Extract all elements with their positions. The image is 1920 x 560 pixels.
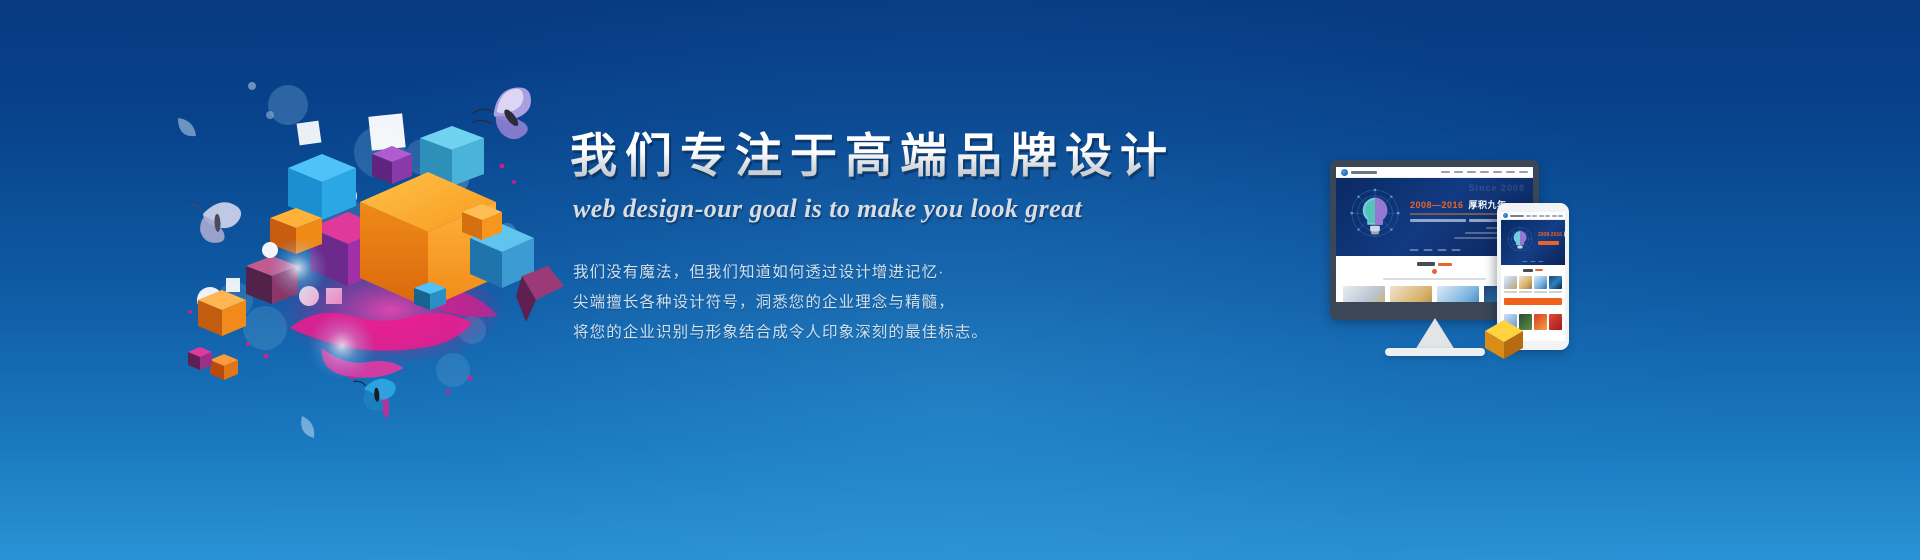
page-subtitle: web design-our goal is to make you look … [573, 194, 1210, 224]
nav-item [1493, 171, 1502, 174]
mobile-hero-text: 2008-2016厚积九年 [1538, 231, 1562, 245]
butterfly-icon [350, 375, 397, 413]
slider-dot[interactable] [1423, 249, 1432, 251]
monitor-stand-neck [1415, 318, 1455, 350]
site-logo-text [1351, 171, 1377, 174]
mobile-cta-banner[interactable] [1504, 298, 1562, 305]
mobile-logo-text [1510, 215, 1524, 217]
site-logo-icon [1341, 169, 1348, 176]
cube [414, 282, 446, 310]
description-line: 将您的企业识别与形象结合成令人印象深刻的最佳标志。 [573, 318, 1210, 348]
site-nav-items [1441, 171, 1528, 174]
description-line: 尖端擅长各种设计符号，洞悉您的企业理念与精髓， [573, 288, 1210, 318]
section-accent-dot [1432, 269, 1437, 274]
nav-item [1539, 215, 1544, 217]
nav-item [1441, 171, 1450, 174]
mobile-nav-items [1526, 215, 1564, 217]
nav-item [1545, 215, 1550, 217]
thumbnail[interactable] [1343, 286, 1385, 302]
cube [372, 146, 412, 184]
mobile-thumbnail-grid [1504, 276, 1562, 293]
mobile-thumb-item[interactable] [1504, 276, 1517, 293]
thumb-caption [1534, 291, 1547, 293]
nav-item [1552, 215, 1557, 217]
nav-item [1526, 215, 1531, 217]
decor-cube-icon [1481, 315, 1527, 361]
gallery-item[interactable] [1549, 314, 1562, 330]
abstract-artwork [170, 60, 600, 460]
slider-dot[interactable] [1539, 261, 1544, 263]
page-title: 我们专注于高端品牌设计 [570, 128, 1210, 183]
mobile-hero-banner: 2008-2016厚积九年 [1501, 220, 1565, 265]
section-title-en [1438, 263, 1452, 266]
section-title-en [1535, 269, 1543, 271]
thumbnail [1549, 276, 1562, 289]
cube [210, 354, 238, 380]
mobile-hero-bar [1538, 241, 1559, 245]
nav-item [1532, 215, 1537, 217]
hero-slider-dots[interactable] [1409, 249, 1460, 251]
thumbnail [1519, 276, 1532, 289]
thumb-caption [1504, 291, 1517, 293]
nav-item [1467, 171, 1476, 174]
thumbnail[interactable] [1390, 286, 1432, 302]
mobile-thumb-item[interactable] [1519, 276, 1532, 293]
slider-dot[interactable] [1409, 249, 1418, 251]
mobile-thumb-item[interactable] [1549, 276, 1562, 293]
thumbnail [1504, 276, 1517, 289]
mobile-logo-icon [1503, 213, 1508, 218]
mobile-thumb-item[interactable] [1534, 276, 1547, 293]
hero-text-block: 我们专注于高端品牌设计 web design-our goal is to ma… [570, 128, 1210, 348]
thumbnail [1534, 276, 1547, 289]
nav-item [1519, 171, 1528, 174]
gallery-item[interactable] [1534, 314, 1547, 330]
section-subtitle-line [1383, 278, 1485, 280]
hero-watermark: Since 2008 [1468, 183, 1525, 193]
monitor-stand-base [1385, 348, 1485, 356]
mobile-navbar [1501, 212, 1565, 220]
mobile-section-title [1504, 269, 1562, 272]
slider-dot[interactable] [1531, 261, 1536, 263]
slider-dot[interactable] [1451, 249, 1460, 251]
slider-dot[interactable] [1523, 261, 1528, 263]
description-paragraphs: 我们没有魔法，但我们知道如何透过设计增进记忆· 尖端擅长各种设计符号，洞悉您的企… [573, 258, 1210, 348]
section-title-cn [1523, 269, 1533, 272]
thumb-caption [1519, 291, 1532, 293]
mobile-slider-dots[interactable] [1523, 261, 1544, 263]
description-line: 我们没有魔法，但我们知道如何透过设计增进记忆· [573, 258, 1210, 288]
hero-subline [1410, 213, 1511, 215]
thumbnail[interactable] [1437, 286, 1479, 302]
device-mockup-group: Since 2008 [1320, 160, 1620, 395]
lightbulb-network-icon [1505, 226, 1535, 256]
nav-item [1480, 171, 1489, 174]
hero-banner: 我们专注于高端品牌设计 web design-our goal is to ma… [0, 0, 1920, 560]
nav-item [1506, 171, 1515, 174]
thumb-caption [1549, 291, 1562, 293]
section-title-cn [1417, 262, 1435, 266]
butterfly-icon [182, 195, 243, 248]
slider-dot[interactable] [1437, 249, 1446, 251]
nav-item [1558, 215, 1563, 217]
mobile-hero-years: 2008-2016厚积九年 [1538, 231, 1562, 238]
nav-item [1454, 171, 1463, 174]
site-navbar [1336, 167, 1533, 178]
lightbulb-network-icon [1346, 188, 1404, 246]
cube [188, 347, 212, 370]
hero-desc-line [1410, 219, 1466, 222]
